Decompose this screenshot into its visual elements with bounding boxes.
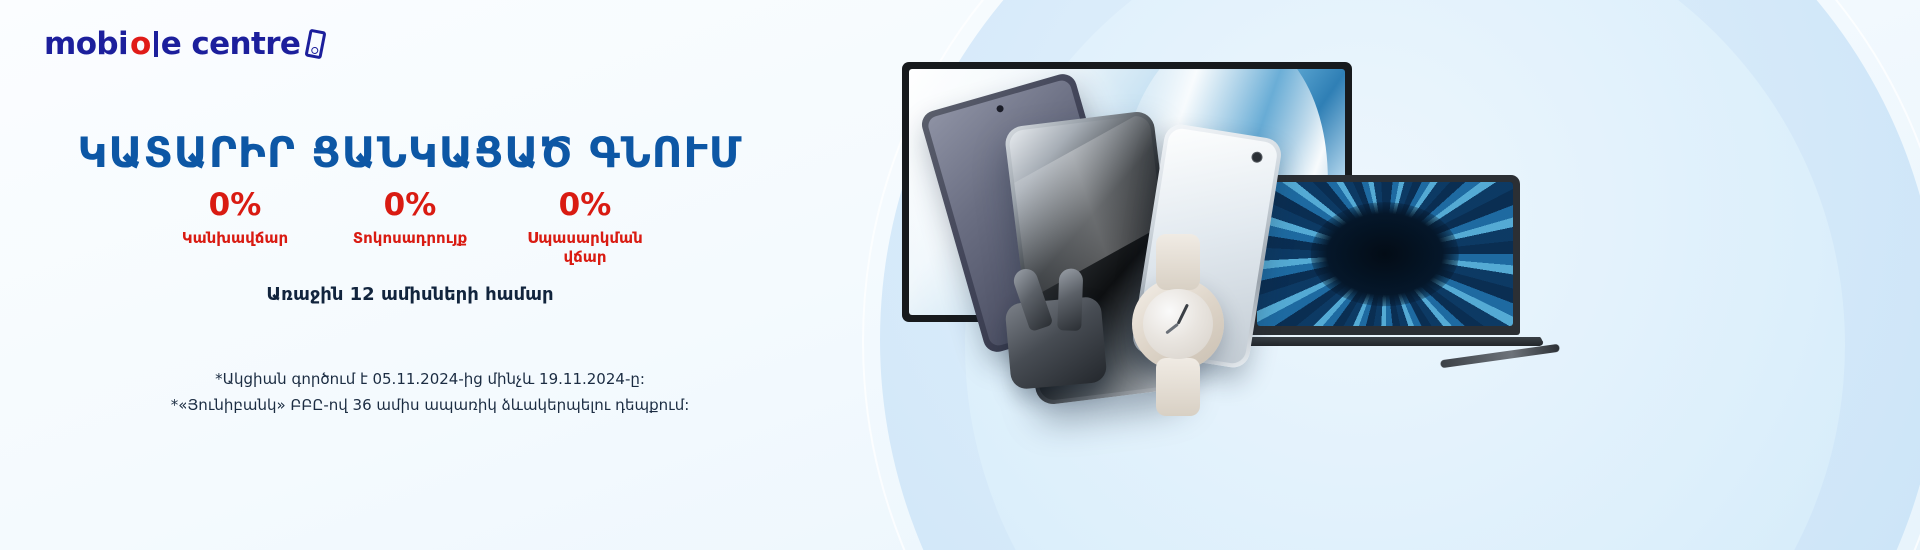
offers-group: 0% Կանխավճար 0% Տոկոսադրույք 0% Սպասարկմ… bbox=[160, 188, 660, 268]
offer-label: Սպասարկման վճար bbox=[510, 229, 660, 268]
offer-percent: 0% bbox=[160, 188, 310, 224]
promo-banner: mobioe centre ԿԱՏԱՐԻՐ ՑԱՆԿԱՑԱԾ ԳՆՈՒՄ 0% … bbox=[0, 0, 1920, 550]
laptop-image bbox=[1250, 175, 1520, 335]
offer-item: 0% Սպասարկման վճար bbox=[510, 188, 660, 268]
logo-text-part1: mobi bbox=[44, 26, 128, 62]
smartwatch-hand-hour bbox=[1165, 323, 1179, 335]
offer-percent: 0% bbox=[335, 188, 485, 224]
earbuds-case-image bbox=[1004, 296, 1107, 390]
earbud-right bbox=[1057, 268, 1083, 331]
stylus-pen-image bbox=[1440, 344, 1560, 369]
phone-icon bbox=[305, 29, 327, 60]
footnotes: *Ակցիան գործում է 05.11.2024-ից մինչև 19… bbox=[0, 366, 860, 419]
smartphone-camera-icon bbox=[1251, 151, 1264, 164]
offer-label: Տոկոսադրույք bbox=[335, 229, 485, 249]
headline: ԿԱՏԱՐԻՐ ՑԱՆԿԱՑԱԾ ԳՆՈՒՄ bbox=[0, 128, 820, 177]
smartwatch-face bbox=[1143, 289, 1213, 359]
smartwatch-strap-top bbox=[1156, 234, 1200, 290]
laptop-screen bbox=[1257, 182, 1513, 326]
smartwatch-strap-bottom bbox=[1156, 358, 1200, 416]
offer-item: 0% Կանխավճար bbox=[160, 188, 310, 248]
offer-percent: 0% bbox=[510, 188, 660, 224]
laptop-lid bbox=[1250, 175, 1520, 335]
logo-text-part2: e centre bbox=[161, 26, 301, 62]
product-cluster bbox=[880, 0, 1580, 550]
footnote-line-2: *«Յունիբանկ» ԲԲԸ-ով 36 ամիս ապառիկ ձևակե… bbox=[0, 392, 860, 418]
smartwatch-image bbox=[1132, 278, 1224, 370]
brand-logo[interactable]: mobioe centre bbox=[44, 26, 324, 62]
offer-label: Կանխավճար bbox=[160, 229, 310, 249]
logo-divider-bar bbox=[154, 31, 158, 57]
smartwatch-hand-minute bbox=[1177, 304, 1189, 325]
logo-text-red-letter: o bbox=[130, 26, 151, 62]
footnote-line-1: *Ակցիան գործում է 05.11.2024-ից մինչև 19… bbox=[0, 366, 860, 392]
offer-item: 0% Տոկոսադրույք bbox=[335, 188, 485, 248]
laptop-base bbox=[1225, 337, 1546, 346]
subtitle: Առաջին 12 ամիսների համար bbox=[0, 284, 820, 305]
